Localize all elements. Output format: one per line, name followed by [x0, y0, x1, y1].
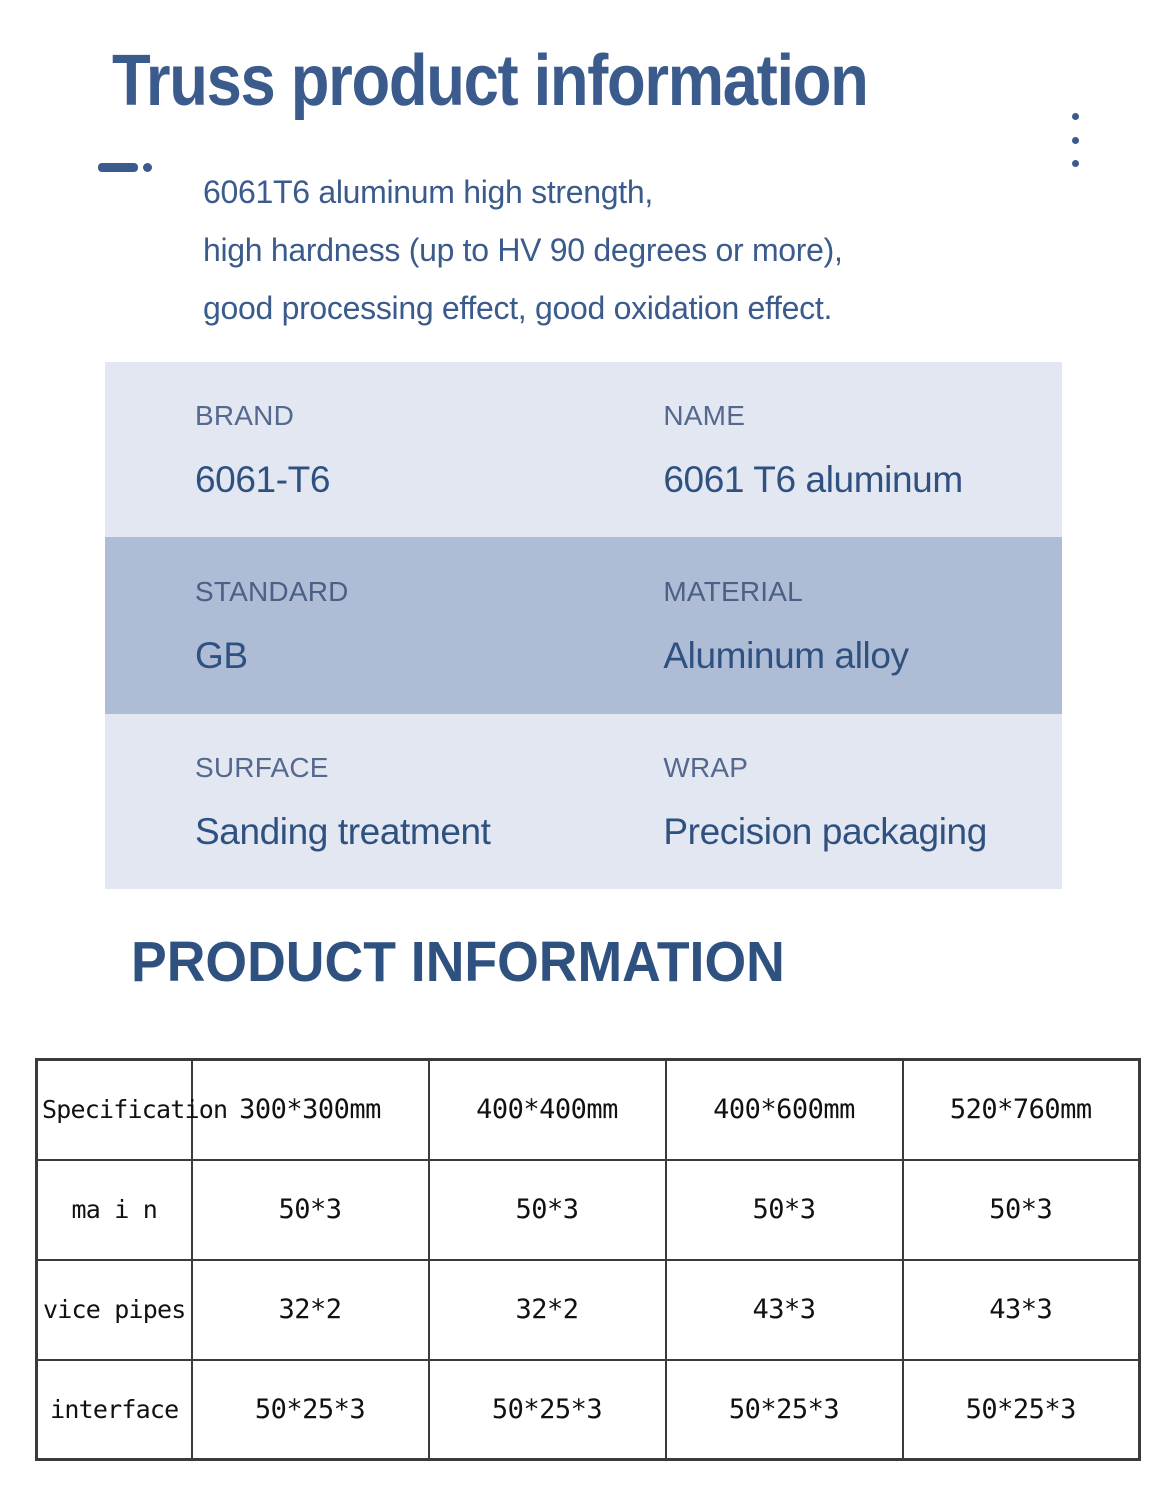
ellipsis-dot	[1072, 113, 1079, 120]
spec-value: Sanding treatment	[195, 811, 663, 853]
table-cell: 50*25*3	[666, 1360, 903, 1460]
table-cell: 50*3	[903, 1160, 1140, 1260]
table-header-cell: 400*400mm	[429, 1060, 666, 1160]
table-cell: 43*3	[903, 1260, 1140, 1360]
table-cell: 50*3	[192, 1160, 429, 1260]
spec-label: STANDARD	[195, 575, 663, 609]
table-cell: 50*25*3	[429, 1360, 666, 1460]
title-block: Truss product information	[0, 0, 1170, 140]
spec-value: 6061-T6	[195, 459, 663, 501]
spec-label: WRAP	[663, 751, 1062, 785]
table-row-label: ma i n	[37, 1160, 192, 1260]
subtitle-line-1: 6061T6 aluminum high strength,	[203, 163, 1083, 221]
spec-value: Precision packaging	[663, 811, 1062, 853]
spec-value: Aluminum alloy	[663, 635, 1062, 677]
dash-dot-marker-icon	[98, 163, 152, 172]
dot-icon	[143, 163, 152, 172]
dash-icon	[98, 163, 138, 172]
table-header-cell: 520*760mm	[903, 1060, 1140, 1160]
product-information-table: Specification 300*300mm 400*400mm 400*60…	[35, 1058, 1140, 1461]
subtitle-line-3: good processing effect, good oxidation e…	[203, 279, 1083, 337]
table-cell: 50*25*3	[903, 1360, 1140, 1460]
spec-cell-standard: STANDARD GB	[195, 575, 663, 677]
table-row: ma i n 50*3 50*3 50*3 50*3	[37, 1160, 1140, 1260]
table-row: vice pipes 32*2 32*2 43*3 43*3	[37, 1260, 1140, 1360]
table-cell: 50*25*3	[192, 1360, 429, 1460]
table-row-label: interface	[37, 1360, 192, 1460]
table-cell: 43*3	[666, 1260, 903, 1360]
spec-cell-name: NAME 6061 T6 aluminum	[663, 399, 1062, 501]
spec-cell-brand: BRAND 6061-T6	[195, 399, 663, 501]
subtitle-text: 6061T6 aluminum high strength, high hard…	[203, 163, 1083, 337]
spec-row: STANDARD GB MATERIAL Aluminum alloy	[105, 537, 1062, 714]
table-header-row: Specification 300*300mm 400*400mm 400*60…	[37, 1060, 1140, 1160]
section-heading: PRODUCT INFORMATION	[131, 929, 785, 995]
table-header-cell: Specification	[37, 1060, 192, 1160]
spec-cell-material: MATERIAL Aluminum alloy	[663, 575, 1062, 677]
table-cell: 32*2	[429, 1260, 666, 1360]
spec-label: NAME	[663, 399, 1062, 433]
spec-label: MATERIAL	[663, 575, 1062, 609]
page-title: Truss product information	[112, 42, 868, 120]
spec-cell-wrap: WRAP Precision packaging	[663, 751, 1062, 853]
ellipsis-dot	[1072, 137, 1079, 144]
spec-value: 6061 T6 aluminum	[663, 459, 1062, 501]
spec-label: BRAND	[195, 399, 663, 433]
table-row-label: vice pipes	[37, 1260, 192, 1360]
table-row: interface 50*25*3 50*25*3 50*25*3 50*25*…	[37, 1360, 1140, 1460]
spec-label: SURFACE	[195, 751, 663, 785]
subtitle-line-2: high hardness (up to HV 90 degrees or mo…	[203, 221, 1083, 279]
table-cell: 32*2	[192, 1260, 429, 1360]
table-cell: 50*3	[429, 1160, 666, 1260]
table-cell: 50*3	[666, 1160, 903, 1260]
spec-row: SURFACE Sanding treatment WRAP Precision…	[105, 714, 1062, 889]
table-header-cell: 300*300mm	[192, 1060, 429, 1160]
specification-card: BRAND 6061-T6 NAME 6061 T6 aluminum STAN…	[105, 362, 1062, 889]
spec-row: BRAND 6061-T6 NAME 6061 T6 aluminum	[105, 362, 1062, 537]
vertical-ellipsis-icon	[1070, 113, 1080, 167]
table-header-cell: 400*600mm	[666, 1060, 903, 1160]
spec-value: GB	[195, 635, 663, 677]
spec-cell-surface: SURFACE Sanding treatment	[195, 751, 663, 853]
